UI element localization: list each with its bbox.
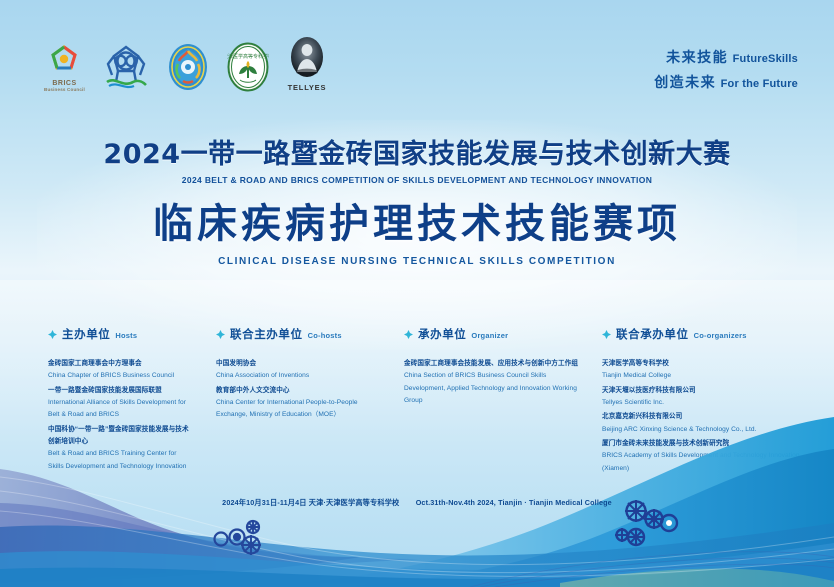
org-entry: 教育部中外人文交流中心 China Center for Internation…	[216, 385, 384, 422]
competition-title-cn: 临床疾病护理技术技能赛项	[0, 201, 834, 247]
slogan-line-1: 未来技能 FutureSkills	[654, 46, 798, 71]
org-entry-cn: 金砖国家工商理事会中方理事会	[48, 358, 194, 370]
org-entry: 金砖国家工商理事会技能发展、应用技术与创新中方工作组 China Section…	[404, 358, 580, 408]
org-entry: 金砖国家工商理事会中方理事会 China Chapter of BRICS Bu…	[48, 358, 194, 383]
footer-date-venue: 2024年10月31日-11月4日 天津·天津医学高等专科学校 Oct.31th…	[0, 498, 834, 508]
invention-assoc-logo	[167, 42, 209, 92]
org-entry-en: International Alliance of Skills Develop…	[48, 397, 194, 422]
org-column-coorganizers-title-en: Co-organizers	[694, 331, 747, 340]
poster-canvas: BRICS Business Council	[0, 0, 834, 587]
org-entry-en: China Center for International People-to…	[216, 397, 384, 422]
org-column-organizer-header: 承办单位 Organizer	[404, 326, 580, 342]
org-column-coorganizers-header: 联合承办单位 Co-organizers	[602, 326, 820, 342]
slogan-line-2-cn: 创造未来	[654, 74, 716, 90]
org-entry: 厦门市金砖未来技能发展与技术创新研究院 BRICS Academy of Ski…	[602, 438, 820, 475]
slogan-block: 未来技能 FutureSkills 创造未来 For the Future	[654, 46, 798, 96]
alliance-logo	[103, 42, 149, 92]
organizations-section: 主办单位 Hosts 金砖国家工商理事会中方理事会 China Chapter …	[0, 326, 834, 477]
org-column-organizer: 承办单位 Organizer 金砖国家工商理事会技能发展、应用技术与创新中方工作…	[398, 326, 594, 477]
org-entry-en: Tellyes Scientific Inc.	[602, 397, 820, 410]
diamond-bullet-icon	[216, 330, 225, 339]
diamond-bullet-icon	[602, 330, 611, 339]
org-column-coorganizers-title-cn: 联合承办单位	[616, 326, 689, 342]
event-title-cn: 2024一带一路暨金砖国家技能发展与技术创新大赛	[0, 140, 834, 170]
org-entry-cn: 天津医学高等专科学校	[602, 358, 820, 370]
brics-logo-caption: BRICS	[52, 80, 76, 87]
org-column-organizer-title-en: Organizer	[471, 331, 508, 340]
org-entry-cn: 中国科协“一带一路”暨金砖国家技能发展与技术创新培训中心	[48, 424, 194, 448]
org-column-cohosts-title-en: Co-hosts	[308, 331, 342, 340]
org-column-cohosts-title-cn: 联合主办单位	[230, 326, 303, 342]
org-entry: 北京嘉克新兴科技有限公司 Beijing ARC Xinxing Science…	[602, 411, 820, 436]
tianjin-medical-logo: 天津医学高等专科学校	[227, 42, 269, 92]
footer-date-venue-en: Oct.31th-Nov.4th 2024, Tianjin · Tianjin…	[416, 498, 612, 507]
footer-date-venue-cn: 2024年10月31日-11月4日 天津·天津医学高等专科学校	[222, 498, 399, 507]
diamond-bullet-icon	[404, 330, 413, 339]
org-entry-cn: 金砖国家工商理事会技能发展、应用技术与创新中方工作组	[404, 358, 580, 370]
brics-logo-mark	[46, 43, 82, 79]
slogan-line-2-en: For the Future	[721, 78, 798, 90]
org-entry: 天津天堰以技医疗科技有限公司 Tellyes Scientific Inc.	[602, 385, 820, 410]
org-entry-cn: 教育部中外人文交流中心	[216, 385, 384, 397]
org-entry-en: Belt & Road and BRICS Training Center fo…	[48, 448, 194, 473]
tianjin-medical-logo-mark: 天津医学高等专科学校	[227, 42, 269, 92]
org-entry-cn: 厦门市金砖未来技能发展与技术创新研究院	[602, 438, 820, 450]
org-column-hosts-title-cn: 主办单位	[62, 326, 110, 342]
org-entry-en: China Chapter of BRICS Business Council	[48, 370, 194, 383]
brics-logo: BRICS Business Council	[44, 43, 85, 92]
org-column-coorganizers: 联合承办单位 Co-organizers 天津医学高等专科学校 Tianjin …	[594, 326, 834, 477]
title-block: 2024一带一路暨金砖国家技能发展与技术创新大赛 2024 BELT & ROA…	[0, 140, 834, 267]
org-column-cohosts-header: 联合主办单位 Co-hosts	[216, 326, 384, 342]
event-title-en: 2024 BELT & ROAD AND BRICS COMPETITION O…	[0, 175, 834, 185]
slogan-line-1-cn: 未来技能	[666, 49, 728, 65]
gear-icon	[210, 515, 268, 557]
org-column-organizer-title-cn: 承办单位	[418, 326, 466, 342]
tellyes-logo-caption: TELLYES	[288, 83, 327, 92]
logo-row: BRICS Business Council	[44, 36, 327, 92]
org-entry: 天津医学高等专科学校 Tianjin Medical College	[602, 358, 820, 383]
org-column-hosts: 主办单位 Hosts 金砖国家工商理事会中方理事会 China Chapter …	[0, 326, 208, 477]
svg-text:天津医学高等专科学校: 天津医学高等专科学校	[227, 53, 269, 60]
diamond-bullet-icon	[48, 330, 57, 339]
slogan-line-2: 创造未来 For the Future	[654, 71, 798, 96]
org-entry: 一带一路暨金砖国家技能发展国际联盟 International Alliance…	[48, 385, 194, 422]
competition-title-en: CLINICAL DISEASE NURSING TECHNICAL SKILL…	[0, 256, 834, 267]
org-column-cohosts: 联合主办单位 Co-hosts 中国发明协会 China Association…	[208, 326, 398, 477]
org-entry: 中国科协“一带一路”暨金砖国家技能发展与技术创新培训中心 Belt & Road…	[48, 424, 194, 473]
org-entry-en: Tianjin Medical College	[602, 370, 820, 383]
org-entry-cn: 一带一路暨金砖国家技能发展国际联盟	[48, 385, 194, 397]
org-column-hosts-title-en: Hosts	[115, 331, 137, 340]
invention-assoc-logo-mark	[167, 42, 209, 92]
org-entry-en: China Section of BRICS Business Council …	[404, 370, 580, 408]
org-entry-en: BRICS Academy of Skills Development and …	[602, 450, 820, 475]
org-entry-en: China Association of Inventions	[216, 370, 384, 383]
tellyes-logo: TELLYES	[287, 36, 327, 92]
org-entry-en: Beijing ARC Xinxing Science & Technology…	[602, 424, 820, 437]
org-column-hosts-header: 主办单位 Hosts	[48, 326, 194, 342]
tellyes-logo-mark	[287, 36, 327, 82]
gear-cluster-left	[210, 515, 268, 557]
org-entry-cn: 北京嘉克新兴科技有限公司	[602, 411, 820, 423]
org-entry-cn: 中国发明协会	[216, 358, 384, 370]
org-entry-cn: 天津天堰以技医疗科技有限公司	[602, 385, 820, 397]
slogan-line-1-en: FutureSkills	[733, 53, 798, 65]
brics-logo-subcaption: Business Council	[44, 87, 85, 92]
alliance-logo-mark	[103, 42, 149, 92]
org-entry: 中国发明协会 China Association of Inventions	[216, 358, 384, 383]
